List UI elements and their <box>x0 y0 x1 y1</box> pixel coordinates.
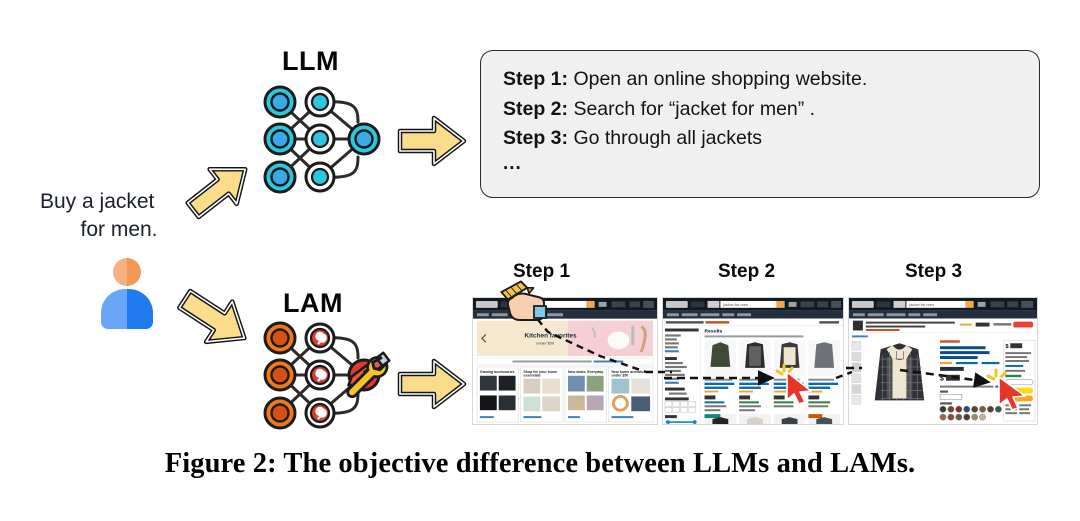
red-arrow-cursor-shot3-icon <box>985 368 1037 410</box>
dash-shot3-to-cart <box>900 370 988 382</box>
hand-with-stylus-cursor-icon <box>498 278 560 328</box>
figure-caption: Figure 2: The objective difference betwe… <box>0 448 1080 480</box>
dashed-connectors <box>0 0 1080 521</box>
red-arrow-cursor-shot2-icon <box>775 362 821 404</box>
figure-canvas: Buy a jacket for men. LLM <box>0 0 1080 521</box>
